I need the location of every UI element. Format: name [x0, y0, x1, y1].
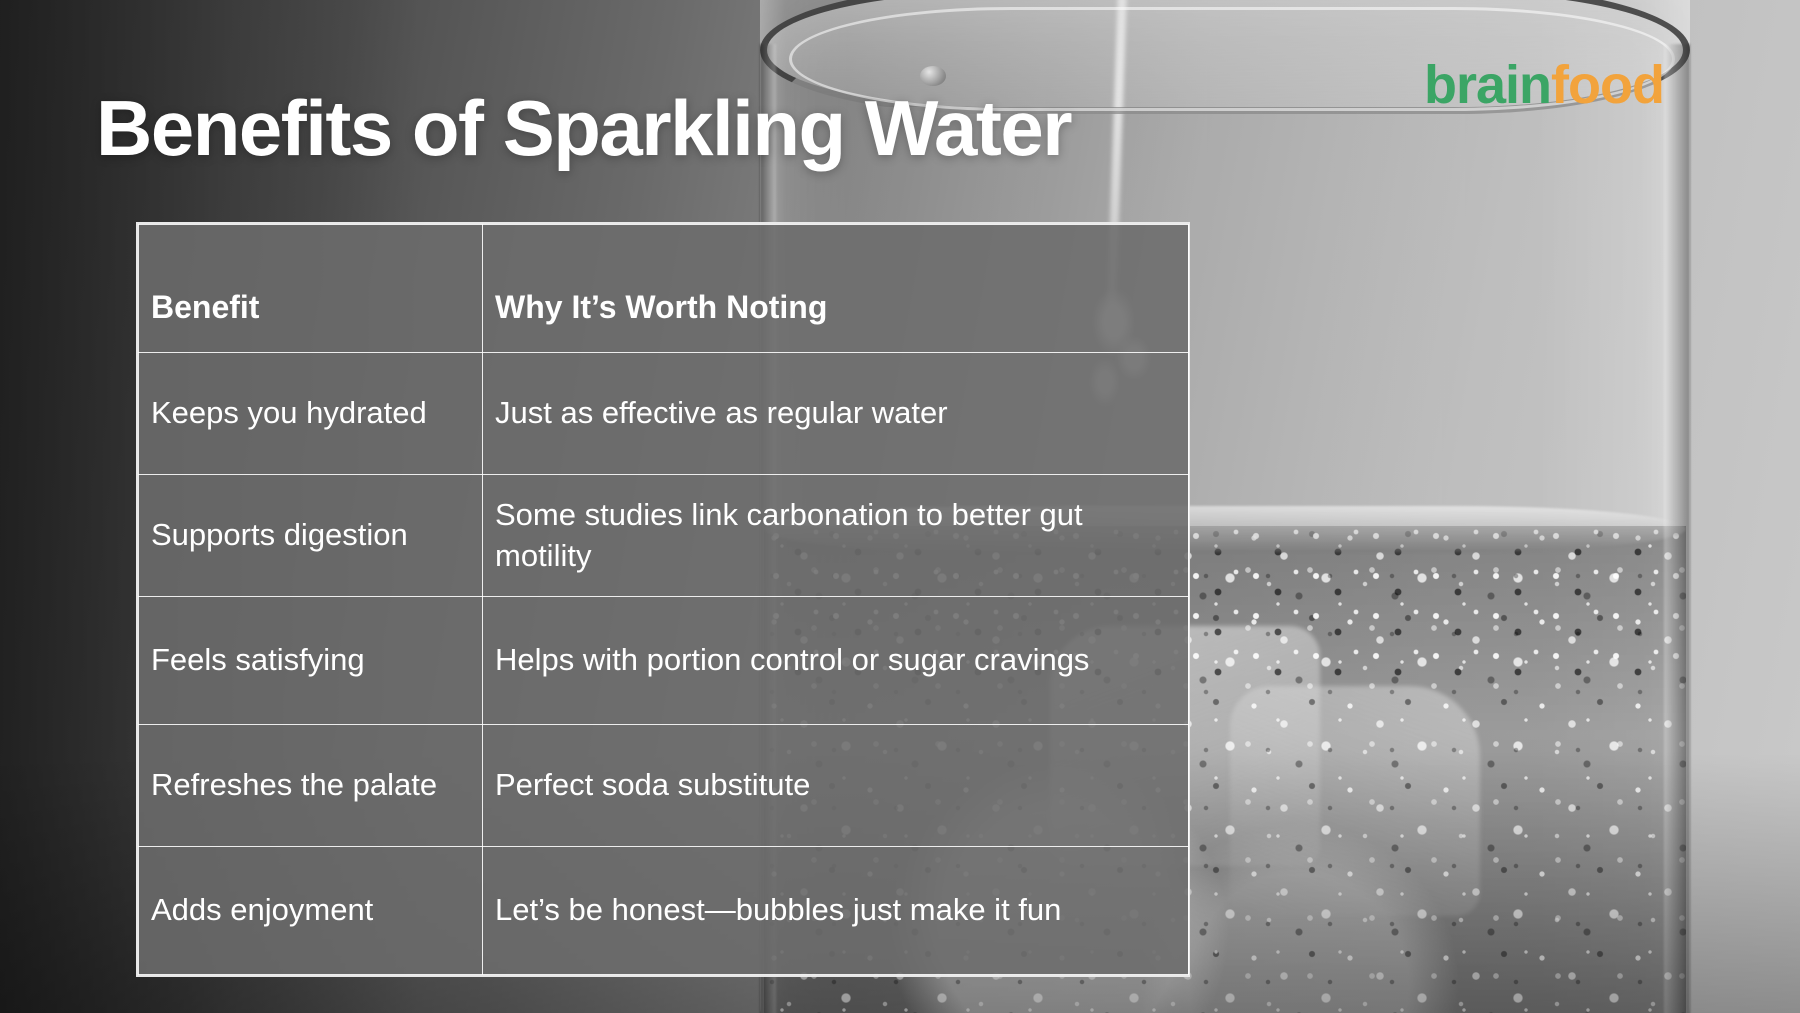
cell-benefit: Supports digestion: [139, 475, 483, 597]
slide-canvas: brainfood Benefits of Sparkling Water Be…: [0, 0, 1800, 1013]
table-body: Keeps you hydrated Just as effective as …: [139, 353, 1189, 975]
table-header-row: Benefit Why It’s Worth Noting: [139, 225, 1189, 353]
table-head: Benefit Why It’s Worth Noting: [139, 225, 1189, 353]
column-header-benefit: Benefit: [139, 225, 483, 353]
cell-benefit: Adds enjoyment: [139, 847, 483, 975]
cell-note: Perfect soda substitute: [483, 725, 1189, 847]
column-header-note: Why It’s Worth Noting: [483, 225, 1189, 353]
table-row: Keeps you hydrated Just as effective as …: [139, 353, 1189, 475]
cell-note: Some studies link carbonation to better …: [483, 475, 1189, 597]
logo-text-food: food: [1551, 55, 1664, 115]
table-row: Feels satisfying Helps with portion cont…: [139, 597, 1189, 725]
table-row: Adds enjoyment Let’s be honest—bubbles j…: [139, 847, 1189, 975]
cell-note: Just as effective as regular water: [483, 353, 1189, 475]
benefits-table: Benefit Why It’s Worth Noting Keeps you …: [138, 224, 1189, 975]
logo-text-brain: brain: [1424, 55, 1551, 115]
cell-note: Helps with portion control or sugar crav…: [483, 597, 1189, 725]
table-row: Refreshes the palate Perfect soda substi…: [139, 725, 1189, 847]
cell-benefit: Keeps you hydrated: [139, 353, 483, 475]
cell-benefit: Feels satisfying: [139, 597, 483, 725]
benefits-table-container: Benefit Why It’s Worth Noting Keeps you …: [136, 222, 1190, 977]
page-title: Benefits of Sparkling Water: [96, 88, 1071, 170]
cell-note: Let’s be honest—bubbles just make it fun: [483, 847, 1189, 975]
table-row: Supports digestion Some studies link car…: [139, 475, 1189, 597]
brainfood-logo: brainfood: [1424, 58, 1664, 112]
cell-benefit: Refreshes the palate: [139, 725, 483, 847]
